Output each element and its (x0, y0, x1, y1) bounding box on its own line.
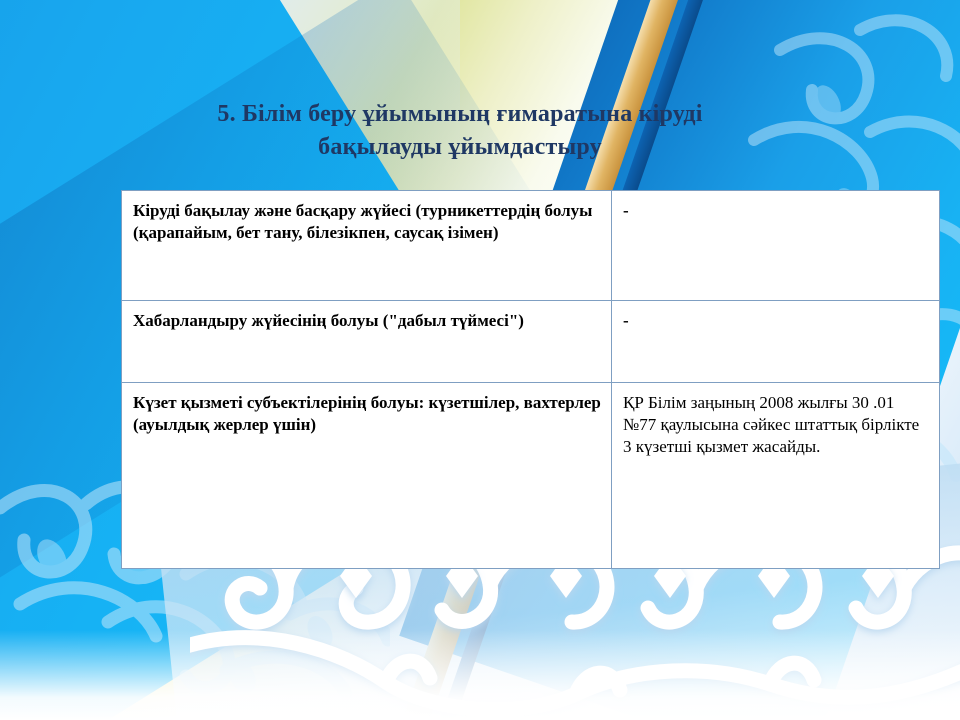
table-cell-criterion: Кіруді бақылау және басқару жүйесі (турн… (122, 191, 612, 301)
table-row: Күзет қызметі субъектілерінің болуы: күз… (122, 383, 940, 569)
page-title-line-1: 5. Білім беру ұйымының ғимаратына кіруді (150, 98, 770, 131)
table-row: Кіруді бақылау және басқару жүйесі (турн… (122, 191, 940, 301)
page-title: 5. Білім беру ұйымының ғимаратына кіруді… (150, 98, 770, 163)
table-cell-criterion: Күзет қызметі субъектілерінің болуы: күз… (122, 383, 612, 569)
table-cell-value: - (612, 191, 940, 301)
table-cell-value: - (612, 301, 940, 383)
slide: 5. Білім беру ұйымының ғимаратына кіруді… (0, 0, 960, 720)
page-title-line-2: бақылауды ұйымдастыру (150, 131, 770, 164)
criteria-table: Кіруді бақылау және басқару жүйесі (турн… (121, 190, 940, 569)
decorative-bottom-fade (0, 630, 960, 720)
table-cell-value: ҚР Білім заңының 2008 жылғы 30 .01 №77 қ… (612, 383, 940, 569)
table-cell-criterion: Хабарландыру жүйесінің болуы ("дабыл түй… (122, 301, 612, 383)
table-row: Хабарландыру жүйесінің болуы ("дабыл түй… (122, 301, 940, 383)
